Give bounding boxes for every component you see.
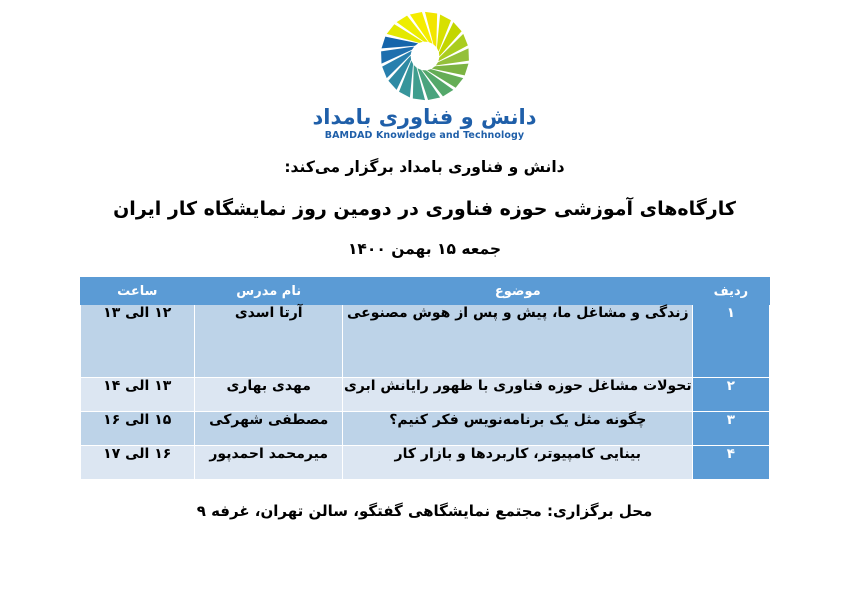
event-date: جمعه ۱۵ بهمن ۱۴۰۰	[0, 239, 849, 261]
schedule-table: ردیف موضوع نام مدرس ساعت ۱زندگی و مشاغل …	[80, 277, 770, 480]
presents-line: دانش و فناوری بامداد برگزار می‌کند:	[0, 157, 849, 179]
brand-wordmark-fa: دانش و فناوری بامداد	[313, 106, 537, 129]
cell-topic: چگونه مثل یک برنامه‌نویس فکر کنیم؟	[343, 412, 693, 446]
cell-time: ۱۲ الی ۱۳	[80, 305, 195, 378]
cell-topic: بینایی کامپیوتر، کاربردها و بازار کار	[343, 446, 693, 480]
table-row: ۳چگونه مثل یک برنامه‌نویس فکر کنیم؟مصطفی…	[80, 412, 769, 446]
table-row: ۴بینایی کامپیوتر، کاربردها و بازار کارمی…	[80, 446, 769, 480]
cell-name: مصطفی شهرکی	[195, 412, 343, 446]
brand-header: دانش و فناوری بامداد BAMDAD Knowledge an…	[0, 0, 849, 141]
cell-topic: زندگی و مشاغل ما، پیش و پس از هوش مصنوعی	[343, 305, 693, 378]
schedule-table-wrapper: ردیف موضوع نام مدرس ساعت ۱زندگی و مشاغل …	[80, 277, 770, 480]
heading-area: دانش و فناوری بامداد برگزار می‌کند: کارگ…	[0, 157, 849, 261]
cell-time: ۱۵ الی ۱۶	[80, 412, 195, 446]
cell-time: ۱۶ الی ۱۷	[80, 446, 195, 480]
cell-num: ۱	[693, 305, 769, 378]
cell-num: ۴	[693, 446, 769, 480]
bamdad-aperture-logo-icon	[377, 8, 473, 104]
column-header-num: ردیف	[693, 278, 769, 305]
table-header-row: ردیف موضوع نام مدرس ساعت	[80, 278, 769, 305]
cell-time: ۱۳ الی ۱۴	[80, 378, 195, 412]
column-header-name: نام مدرس	[195, 278, 343, 305]
table-row: ۱زندگی و مشاغل ما، پیش و پس از هوش مصنوع…	[80, 305, 769, 378]
table-row: ۲تحولات مشاغل حوزه فناوری با ظهور رایانش…	[80, 378, 769, 412]
cell-name: آرتا اسدی	[195, 305, 343, 378]
venue-note: محل برگزاری: مجتمع نمایشگاهی گفتگو، سالن…	[0, 502, 849, 520]
column-header-time: ساعت	[80, 278, 195, 305]
cell-num: ۲	[693, 378, 769, 412]
page-title: کارگاه‌های آموزشی حوزه فناوری در دومین ر…	[0, 196, 849, 223]
cell-name: میرمحمد احمدپور	[195, 446, 343, 480]
brand-wordmark-en: BAMDAD Knowledge and Technology	[325, 130, 524, 141]
cell-name: مهدی بهاری	[195, 378, 343, 412]
column-header-topic: موضوع	[343, 278, 693, 305]
cell-topic: تحولات مشاغل حوزه فناوری با ظهور رایانش …	[343, 378, 693, 412]
cell-num: ۳	[693, 412, 769, 446]
